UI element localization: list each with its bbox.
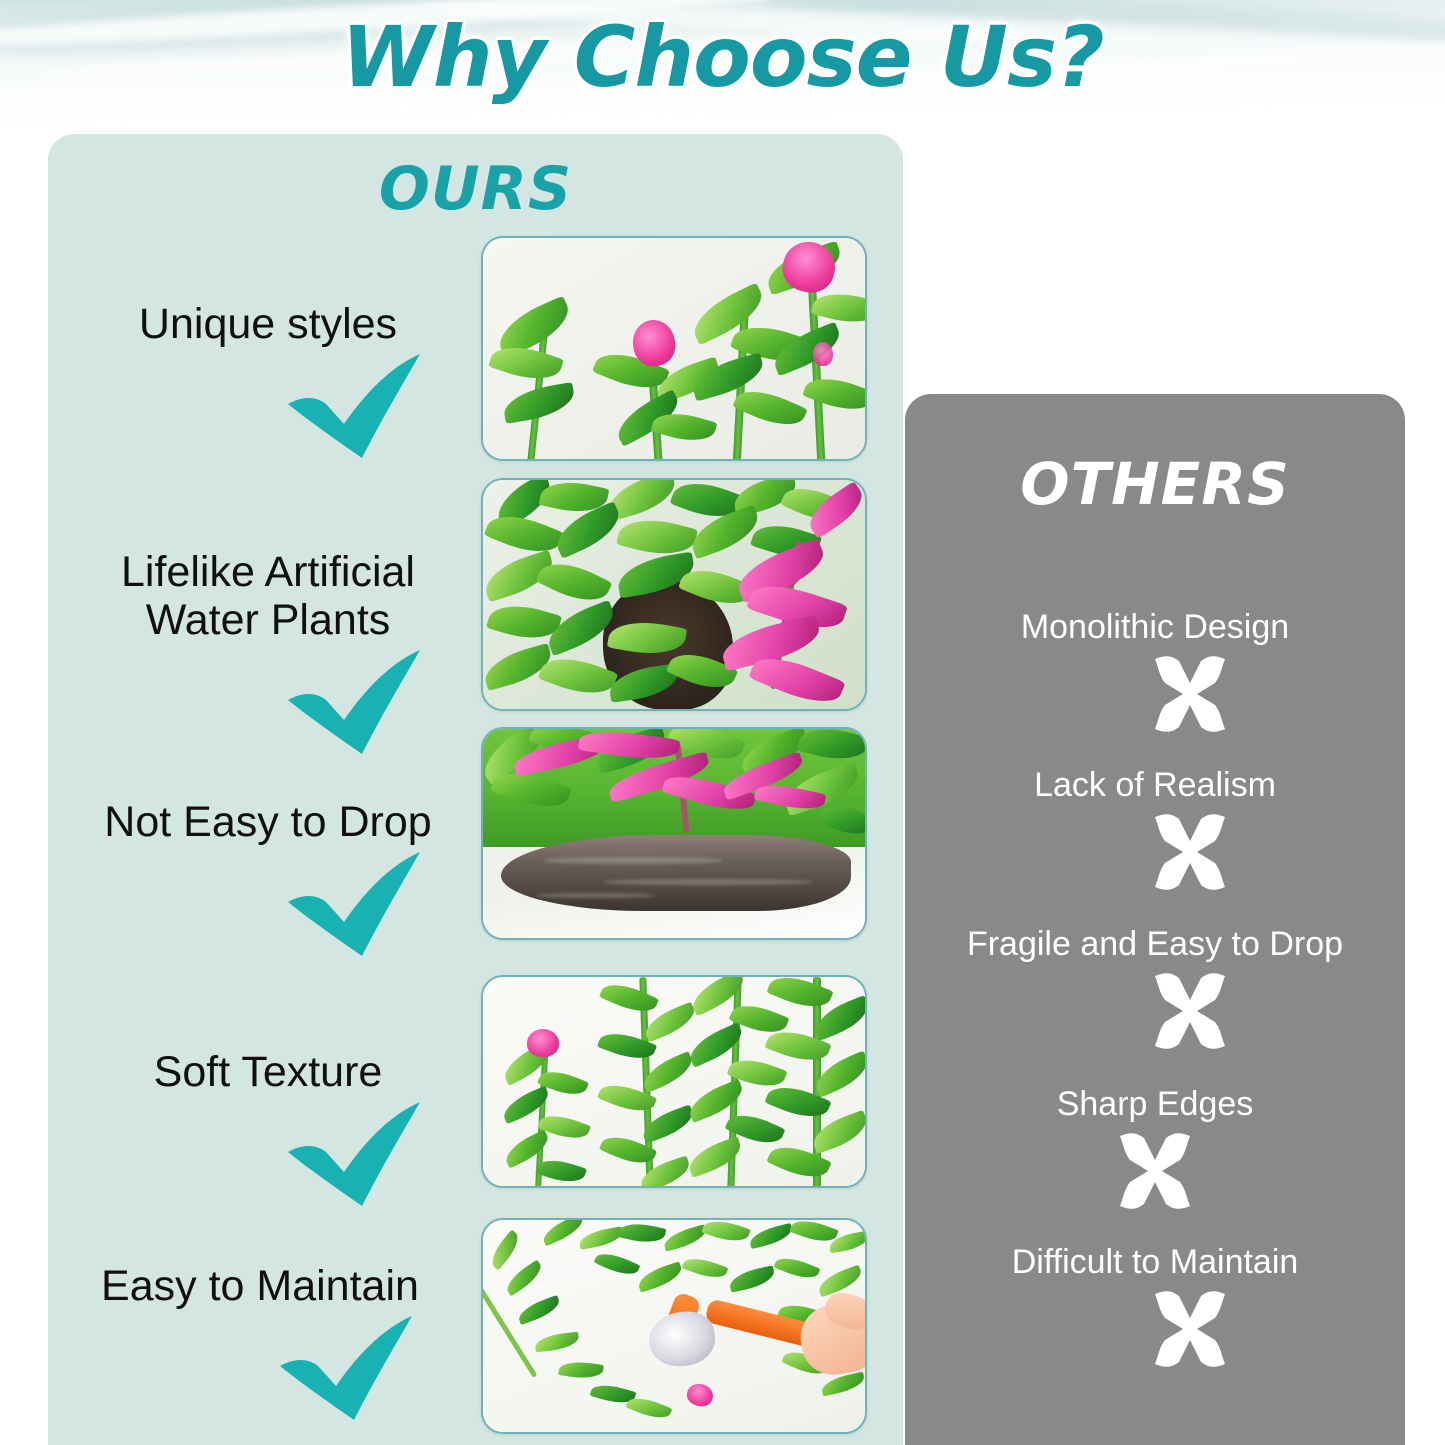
ours-item-5: Easy to Maintain	[40, 1262, 480, 1424]
others-item-4: Sharp Edges	[905, 1085, 1405, 1212]
ours-item-1: Unique styles	[48, 300, 488, 462]
ours-photo-4	[481, 975, 867, 1188]
cross-icon	[905, 653, 1405, 735]
check-icon	[48, 352, 488, 462]
others-heading: OTHERS	[905, 450, 1405, 518]
ours-item-2: Lifelike Artificial Water Plants	[48, 548, 488, 758]
ours-photo-3	[481, 727, 867, 940]
cross-icon	[905, 1130, 1405, 1212]
others-item-1: Monolithic Design	[905, 608, 1405, 735]
others-item-5: Difficult to Maintain	[905, 1243, 1405, 1370]
ours-item-label: Unique styles	[48, 300, 488, 348]
check-icon	[48, 850, 488, 960]
cross-icon	[905, 970, 1405, 1052]
ours-item-3: Not Easy to Drop	[48, 798, 488, 960]
ours-heading: OURS	[48, 154, 903, 224]
ours-item-label: Soft Texture	[48, 1048, 488, 1096]
others-item-3: Fragile and Easy to Drop	[905, 925, 1405, 1052]
others-item-label: Difficult to Maintain	[905, 1243, 1405, 1282]
infographic-root: Why Choose Us? OURS Unique styles Lifeli…	[0, 0, 1445, 1445]
others-item-2: Lack of Realism	[905, 766, 1405, 893]
check-icon	[48, 1100, 488, 1210]
others-item-label: Monolithic Design	[905, 608, 1405, 647]
others-item-label: Lack of Realism	[905, 766, 1405, 805]
others-item-label: Fragile and Easy to Drop	[905, 925, 1405, 964]
ours-item-label: Easy to Maintain	[40, 1262, 480, 1310]
cross-icon	[905, 811, 1405, 893]
ours-item-4: Soft Texture	[48, 1048, 488, 1210]
ours-photo-1	[481, 236, 867, 461]
cross-icon	[905, 1288, 1405, 1370]
ours-photo-5	[481, 1218, 867, 1434]
ours-item-label: Not Easy to Drop	[48, 798, 488, 846]
check-icon	[40, 1314, 480, 1424]
ours-item-label: Lifelike Artificial Water Plants	[48, 548, 488, 644]
page-title: Why Choose Us?	[0, 8, 1445, 106]
ours-photo-2	[481, 478, 867, 711]
check-icon	[48, 648, 488, 758]
others-item-label: Sharp Edges	[905, 1085, 1405, 1124]
